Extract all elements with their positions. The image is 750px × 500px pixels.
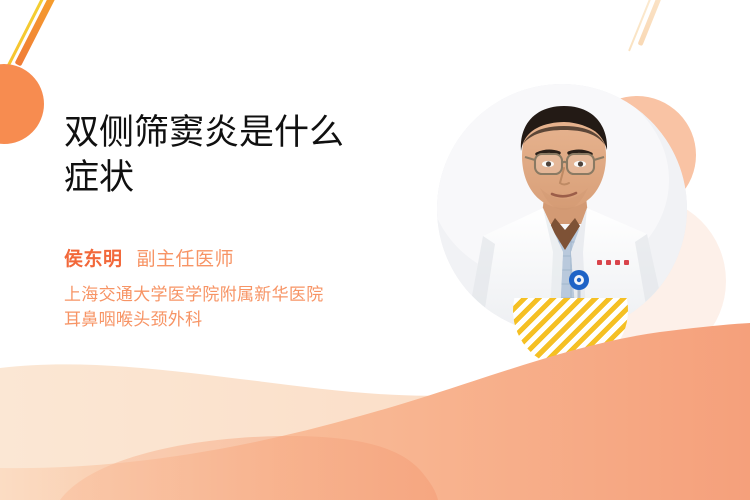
bottom-waves: [0, 320, 750, 500]
text-block: 双侧筛窦炎是什么 症状 侯东明 副主任医师 上海交通大学医学院附属新华医院 耳鼻…: [64, 110, 414, 332]
stripe-top-right-peach: [638, 0, 672, 46]
doctor-title: 副主任医师: [137, 244, 235, 271]
doctor-name: 侯东明: [64, 244, 123, 271]
doctor-hospital: 上海交通大学医学院附属新华医院 耳鼻咽喉头颈外科: [64, 282, 414, 332]
doctor-video-card: 双侧筛窦炎是什么 症状 侯东明 副主任医师 上海交通大学医学院附属新华医院 耳鼻…: [0, 0, 750, 500]
stripe-top-left-orange: [15, 0, 65, 66]
stripe-top-right-light: [628, 0, 660, 51]
page-title: 双侧筛窦炎是什么 症状: [64, 110, 414, 200]
doctor-line: 侯东明 副主任医师: [64, 244, 414, 271]
stripe-top-left-yellow: [3, 0, 51, 73]
circle-orange-decoration: [0, 64, 44, 144]
doctor-portrait: [437, 84, 687, 334]
